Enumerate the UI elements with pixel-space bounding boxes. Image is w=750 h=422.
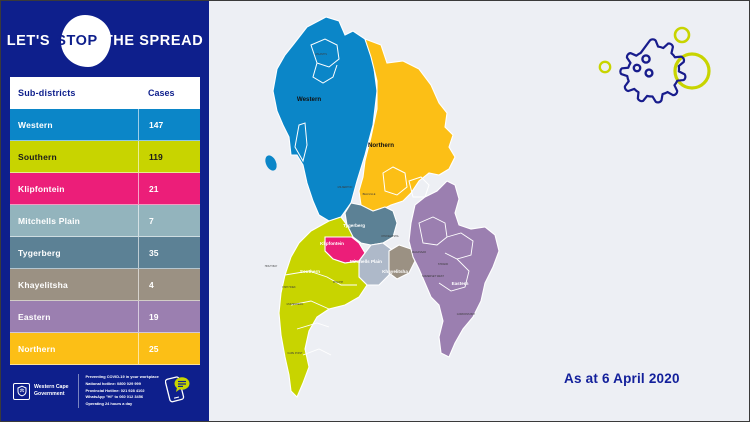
banner-text: LET'S STOP THE SPREAD — [1, 15, 209, 67]
row-case-count: 4 — [138, 269, 200, 300]
robben-island — [263, 154, 279, 173]
map-district-label: Southern — [300, 269, 320, 274]
map-area-label: BELLVILLE — [363, 193, 376, 196]
lime-circle-small — [600, 62, 610, 72]
row-case-count: 19 — [138, 301, 200, 332]
contact-line: WhatsApp "Hi" to 060 012 3456 — [86, 394, 159, 401]
map-area-label: KHAYELITSHA — [381, 235, 398, 238]
table-row: Klipfontein21 — [10, 173, 200, 205]
map-area-label: HOUT BAY — [265, 265, 278, 268]
row-case-count: 147 — [138, 109, 200, 140]
banner-word-stop: STOP — [56, 33, 98, 49]
map-district-label: Northern — [368, 142, 394, 149]
table-header-row: Sub-districts Cases — [10, 77, 200, 109]
contact-line: Provincial Hotline: 021 928 4102 — [86, 388, 159, 395]
footer-bar: Western Cape Government Preventing COVID… — [1, 371, 209, 411]
banner-word-lets: LET'S — [7, 33, 51, 49]
row-case-count: 21 — [138, 173, 200, 204]
map-district-label: Eastern — [452, 281, 469, 286]
map-district-label: Tygerberg — [343, 223, 365, 228]
coronavirus-illustration — [593, 19, 718, 109]
table-body: Western147Southern119Klipfontein21Mitche… — [10, 109, 200, 365]
header-cases: Cases — [138, 77, 200, 109]
row-district-name: Khayelitsha — [10, 280, 138, 290]
cape-town-sub-districts-map: CAPE POINTPHILIPPIKHAYELITSHAMACASSARSTR… — [233, 5, 533, 410]
map-area-label: ATLANTIS — [315, 53, 327, 56]
phone-whatsapp-icon — [165, 374, 191, 409]
campaign-banner: LET'S STOP THE SPREAD — [1, 15, 209, 71]
row-district-name: Northern — [10, 344, 138, 354]
table-row: Northern25 — [10, 333, 200, 365]
row-district-name: Western — [10, 120, 138, 130]
table-row: Tygerberg35 — [10, 237, 200, 269]
map-area-label: MILNERTON — [338, 186, 353, 189]
map-area-label: STRAND — [438, 263, 448, 266]
contact-line: Preventing COVID-19 in your workplace — [86, 374, 159, 381]
contact-details: Preventing COVID-19 in your workplaceNat… — [78, 374, 159, 408]
date-label: As at 6 April 2020 — [564, 371, 680, 386]
row-district-name: Mitchells Plain — [10, 216, 138, 226]
map-area-label: MUIZENBERG — [287, 303, 304, 306]
row-case-count: 25 — [138, 333, 200, 364]
table-row: Mitchells Plain7 — [10, 205, 200, 237]
lime-circle-medium — [675, 28, 689, 42]
infographic-canvas: LET'S STOP THE SPREAD Sub-districts Case… — [0, 0, 750, 422]
table-row: Khayelitsha4 — [10, 269, 200, 301]
table-row: Southern119 — [10, 141, 200, 173]
row-district-name: Eastern — [10, 312, 138, 322]
map-area-label: PHILIPPI — [333, 281, 344, 284]
map-district-label: Klipfontein — [320, 241, 344, 246]
region-eastern — [409, 181, 499, 357]
contact-line: National hotline: 0800 029 999 — [86, 381, 159, 388]
cases-table: Sub-districts Cases Western147Southern11… — [10, 77, 200, 365]
banner-word-spread: THE SPREAD — [104, 33, 203, 49]
map-area-label: CAPE POINT — [287, 352, 303, 355]
row-district-name: Southern — [10, 152, 138, 162]
map-district-label: Mitchells Plain — [350, 259, 382, 264]
table-row: Eastern19 — [10, 301, 200, 333]
map-district-label: Western — [297, 96, 322, 103]
header-sub-districts: Sub-districts — [10, 88, 138, 98]
row-case-count: 35 — [138, 237, 200, 268]
left-panel: LET'S STOP THE SPREAD Sub-districts Case… — [1, 1, 209, 422]
map-area-label: FISH HOEK — [282, 286, 296, 289]
crest-icon — [13, 383, 30, 400]
table-row: Western147 — [10, 109, 200, 141]
region-mitchells-plain — [359, 243, 393, 285]
western-cape-government-logo: Western Cape Government — [13, 383, 69, 400]
contact-line: Operating 24 hours a day — [86, 401, 159, 408]
map-area-label: MACASSAR — [412, 251, 426, 254]
map-area-label: SOMERSET WEST — [422, 275, 444, 278]
row-district-name: Klipfontein — [10, 184, 138, 194]
map-district-label: Khayelitsha — [382, 269, 408, 274]
logo-wordmark: Western Cape Government — [34, 384, 69, 398]
map-area-label: GORDONS BAY — [457, 313, 476, 316]
row-case-count: 119 — [138, 141, 200, 172]
row-case-count: 7 — [138, 205, 200, 236]
row-district-name: Tygerberg — [10, 248, 138, 258]
